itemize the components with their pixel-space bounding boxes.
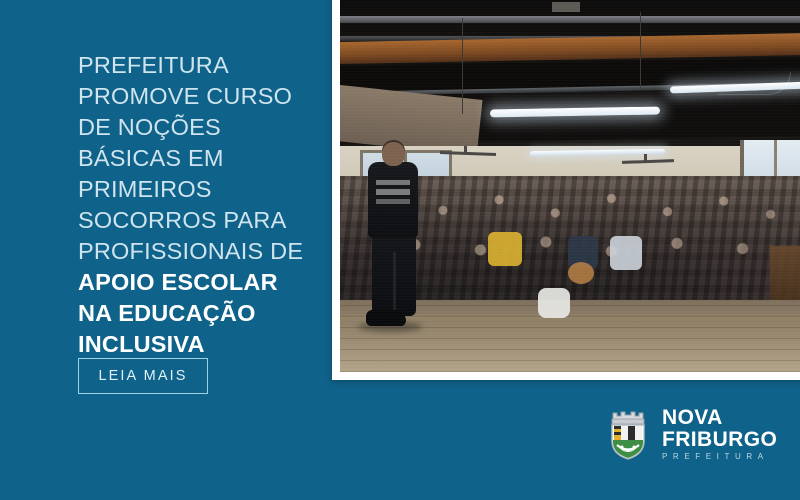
headline-bold-line-3: INCLUSIVA	[78, 329, 310, 360]
speaker-uniform-text	[376, 180, 410, 206]
read-more-button[interactable]: LEIA MAIS	[78, 358, 208, 394]
headline-line-1: PREFEITURA	[78, 50, 310, 81]
logo-line-friburgo: FRIBURGO	[662, 429, 777, 450]
auditorium-photo	[340, 0, 800, 372]
hanging-wire-2	[640, 12, 641, 90]
ceiling-vent	[552, 2, 580, 12]
photo-frame	[332, 0, 800, 380]
wooden-bench	[770, 246, 800, 304]
headline-bold-line-2: NA EDUCAÇÃO	[78, 298, 310, 329]
headline-line-4: BÁSICAS EM	[78, 143, 310, 174]
logo-subtitle: PREFEITURA	[662, 453, 777, 461]
prefeitura-logo[interactable]: NOVA FRIBURGO PREFEITURA	[604, 406, 777, 462]
headline-line-7: PROFISSIONAIS DE	[78, 236, 310, 267]
audience-bag-tan	[568, 262, 594, 284]
audience-bag-white	[538, 288, 570, 318]
audience-person-white	[610, 236, 642, 270]
headline-line-6: SOCORROS PARA	[78, 205, 310, 236]
logo-text: NOVA FRIBURGO PREFEITURA	[662, 407, 777, 461]
headline-line-3: DE NOÇÕES	[78, 112, 310, 143]
audience-person-yellow	[488, 232, 522, 266]
ceiling-rail-1	[340, 16, 800, 23]
headline-line-2: PROMOVE CURSO	[78, 81, 310, 112]
speaker-head	[382, 142, 405, 166]
ceiling-fan-1-rod	[464, 146, 467, 154]
speaker-legs-split	[393, 252, 396, 316]
logo-line-nova: NOVA	[662, 407, 777, 428]
ceiling-fan-2-rod	[644, 154, 647, 162]
headline: PREFEITURA PROMOVE CURSO DE NOÇÕES BÁSIC…	[78, 50, 310, 360]
headline-line-5: PRIMEIROS	[78, 174, 310, 205]
news-banner: PREFEITURA PROMOVE CURSO DE NOÇÕES BÁSIC…	[0, 0, 800, 500]
coat-of-arms-icon	[604, 406, 652, 462]
headline-bold-line-1: APOIO ESCOLAR	[78, 267, 310, 298]
hanging-wire-1	[462, 18, 463, 114]
speaker-boots	[366, 310, 406, 326]
